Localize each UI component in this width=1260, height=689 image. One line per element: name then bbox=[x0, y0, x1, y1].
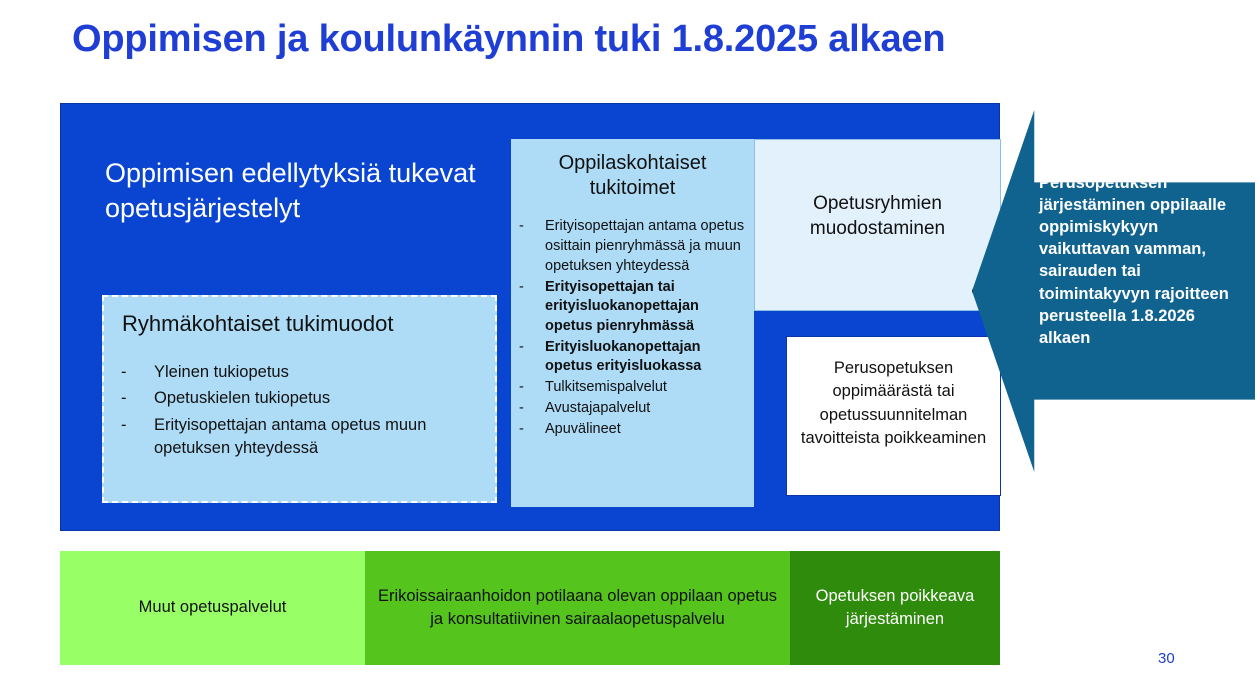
panel-heading: Oppimisen edellytyksiä tukevat opetusjär… bbox=[105, 156, 505, 225]
left-arrow-text: Perusopetuksen järjestäminen oppilaalle … bbox=[1039, 172, 1244, 349]
green-segment-other-services: Muut opetuspalvelut bbox=[60, 551, 365, 665]
student-support-list: Erityisopettajan antama opetus osittain … bbox=[515, 217, 748, 439]
list-item: Erityisopettajan antama opetus muun opet… bbox=[118, 414, 486, 461]
list-item: Erityisluokanopettajan opetus erityisluo… bbox=[515, 338, 748, 377]
teaching-groups-text: Opetusryhmien muodostaminen bbox=[755, 192, 1000, 241]
group-support-title: Ryhmäkohtaiset tukimuodot bbox=[122, 311, 393, 337]
list-item: Avustajapalvelut bbox=[515, 399, 748, 419]
main-blue-panel: Oppimisen edellytyksiä tukevat opetusjär… bbox=[60, 103, 1000, 531]
list-item: Yleinen tukiopetus bbox=[118, 361, 486, 384]
list-item: Erityisopettajan antama opetus osittain … bbox=[515, 217, 748, 276]
list-item: Erityisopettajan tai erityisluokanopetta… bbox=[515, 278, 748, 337]
green-segment-hospital-education: Erikoissairaanhoidon potilaana olevan op… bbox=[365, 551, 790, 665]
slide-number: 30 bbox=[1158, 650, 1175, 667]
student-support-title: Oppilaskohtaiset tukitoimet bbox=[521, 151, 744, 201]
list-item: Opetuskielen tukiopetus bbox=[118, 387, 486, 410]
group-support-list: Yleinen tukiopetus Opetuskielen tukiopet… bbox=[118, 361, 486, 464]
green-services-bar: Muut opetuspalvelut Erikoissairaanhoidon… bbox=[60, 551, 1000, 665]
left-arrow-callout: Perusopetuksen järjestäminen oppilaalle … bbox=[972, 110, 1255, 472]
deviation-box: Perusopetuksen oppimäärästä tai opetussu… bbox=[786, 336, 1001, 496]
list-item: Apuvälineet bbox=[515, 420, 748, 440]
slide-canvas: Oppimisen ja koulunkäynnin tuki 1.8.2025… bbox=[0, 0, 1260, 689]
green-segment-exceptional-arrangement: Opetuksen poikkeava järjestäminen bbox=[790, 551, 1000, 665]
deviation-text: Perusopetuksen oppimäärästä tai opetussu… bbox=[787, 357, 1000, 451]
group-support-box: Ryhmäkohtaiset tukimuodot Yleinen tukiop… bbox=[102, 295, 497, 503]
teaching-groups-box: Opetusryhmien muodostaminen bbox=[754, 139, 1001, 311]
page-title: Oppimisen ja koulunkäynnin tuki 1.8.2025… bbox=[72, 18, 1192, 61]
student-support-box: Oppilaskohtaiset tukitoimet Erityisopett… bbox=[511, 139, 754, 507]
list-item: Tulkitsemispalvelut bbox=[515, 378, 748, 398]
